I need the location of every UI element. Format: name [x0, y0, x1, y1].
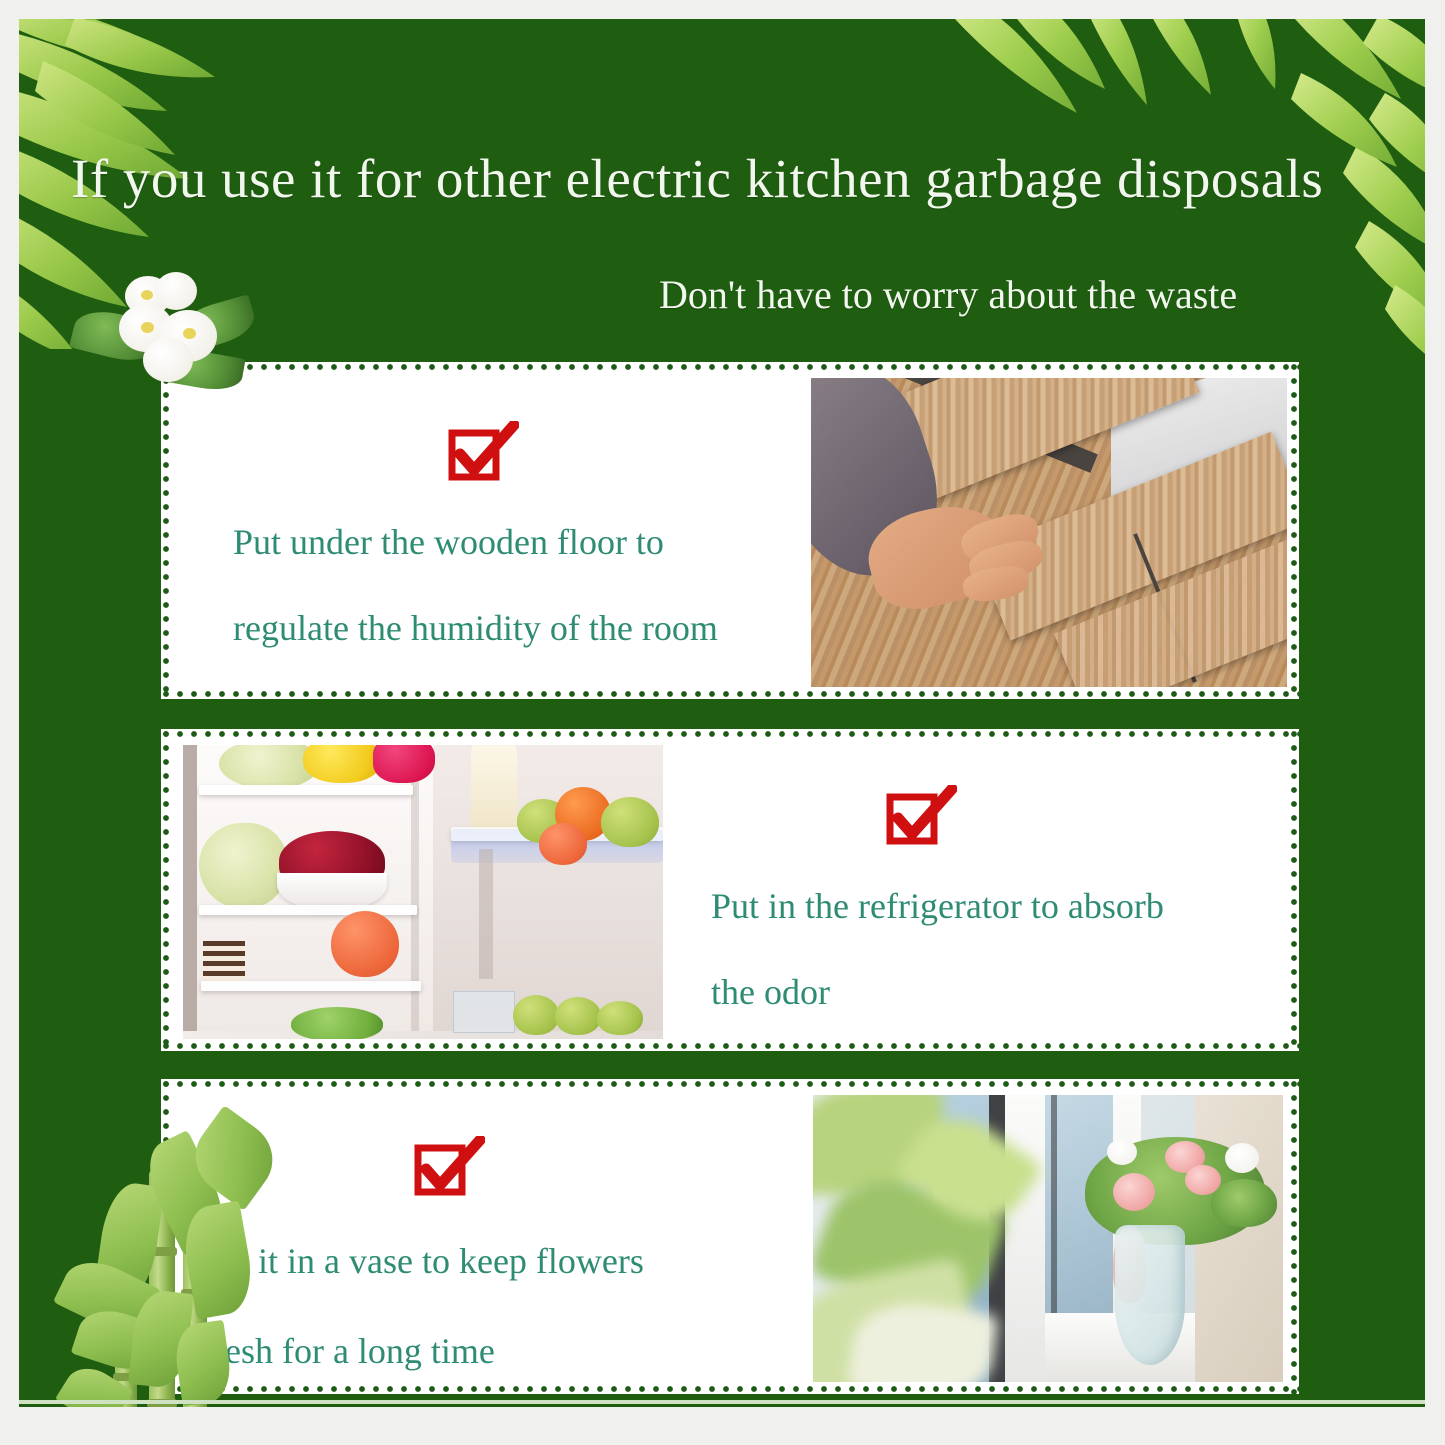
card-image-vase: [813, 1095, 1283, 1382]
card-text-line-2: fresh for a long time: [201, 1320, 813, 1382]
green-background-panel: If you use it for other electric kitchen…: [19, 19, 1425, 1407]
checked-checkbox-icon: [445, 421, 519, 487]
card-text-column: Put it in a vase to keep flowers fresh f…: [173, 1091, 813, 1382]
feature-card-vase: Put it in a vase to keep flowers fresh f…: [161, 1079, 1299, 1394]
feature-card-wooden-floor: Put under the wooden floor to regulate t…: [161, 362, 1299, 699]
page-subtitle: Don't have to worry about the waste: [659, 271, 1419, 318]
feature-card-refrigerator: Put in the refrigerator to absorb the od…: [161, 729, 1299, 1051]
checkbox-wrap: [411, 1136, 813, 1202]
card-text-line-1: Put in the refrigerator to absorb: [711, 875, 1297, 937]
card-text-column: Put under the wooden floor to regulate t…: [173, 374, 811, 687]
page-title: If you use it for other electric kitchen…: [71, 147, 1416, 210]
card-text-line-2: the odor: [711, 961, 1297, 1023]
card-text-line-1: Put under the wooden floor to: [233, 511, 811, 573]
card-image-refrigerator: [183, 745, 663, 1039]
checkbox-wrap: [883, 785, 1297, 851]
card-text-line-1: Put it in a vase to keep flowers: [201, 1230, 813, 1292]
card-image-wooden-floor: [811, 378, 1287, 687]
jasmine-flower-cluster-icon: [59, 256, 279, 396]
card-text-column: Put in the refrigerator to absorb the od…: [693, 741, 1297, 1039]
checked-checkbox-icon: [411, 1136, 485, 1202]
checked-checkbox-icon: [883, 785, 957, 851]
bamboo-leaves-top-right-icon: [949, 19, 1425, 405]
poster-root: If you use it for other electric kitchen…: [0, 0, 1445, 1445]
card-text-line-2: regulate the humidity of the room: [233, 597, 811, 659]
checkbox-wrap: [445, 421, 811, 487]
panel-bottom-edge: [19, 1400, 1425, 1404]
